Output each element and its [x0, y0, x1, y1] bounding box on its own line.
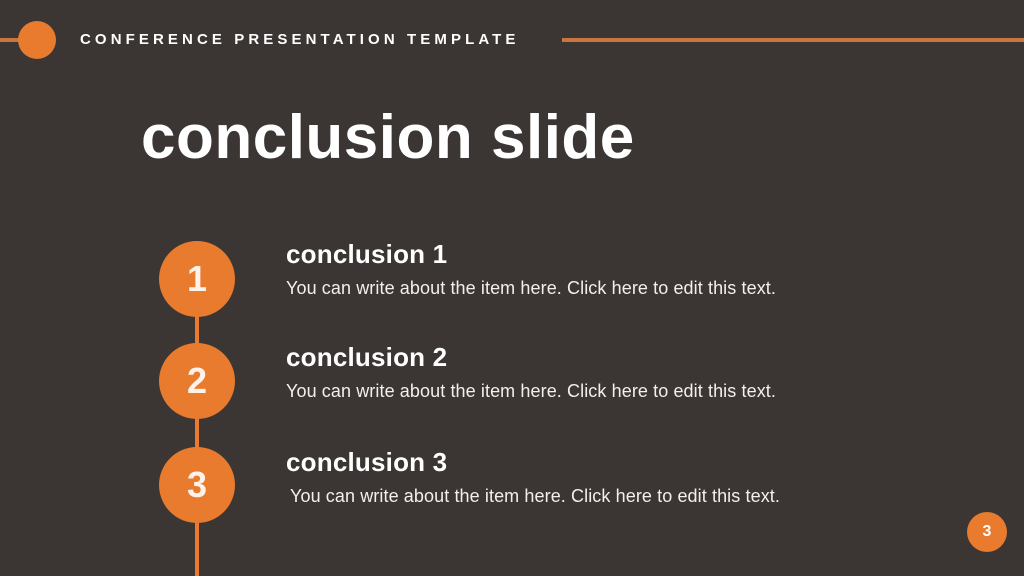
timeline-list: 1 conclusion 1 You can write about the i… [0, 0, 1024, 576]
presentation-slide: CONFERENCE PRESENTATION TEMPLATE conclus… [0, 0, 1024, 576]
step-body-2: You can write about the item here. Click… [286, 379, 926, 403]
step-item-1: conclusion 1 You can write about the ite… [286, 238, 926, 300]
step-item-2: conclusion 2 You can write about the ite… [286, 341, 926, 403]
step-number-badge-1: 1 [159, 241, 235, 317]
step-body-3: You can write about the item here. Click… [286, 484, 926, 508]
step-number-badge-3: 3 [159, 447, 235, 523]
step-heading-2: conclusion 2 [286, 341, 926, 373]
page-number-badge: 3 [967, 512, 1007, 552]
step-heading-3: conclusion 3 [286, 446, 926, 478]
step-body-1: You can write about the item here. Click… [286, 276, 926, 300]
step-number-badge-2: 2 [159, 343, 235, 419]
step-heading-1: conclusion 1 [286, 238, 926, 270]
step-item-3: conclusion 3 You can write about the ite… [286, 446, 926, 508]
